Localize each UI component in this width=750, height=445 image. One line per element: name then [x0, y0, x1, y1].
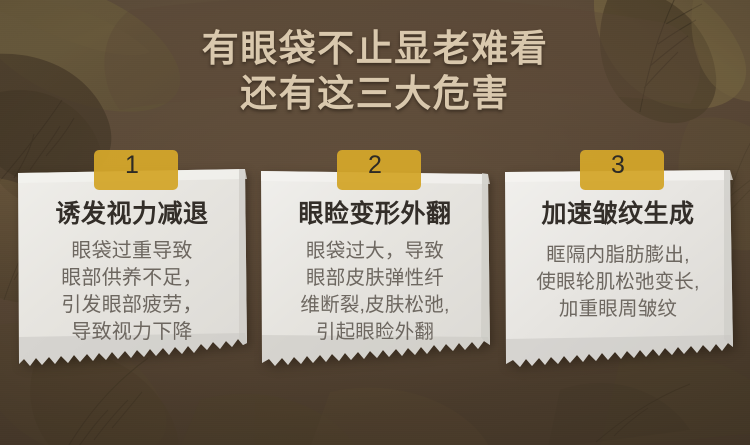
- hazard-card-2: 眼睑变形外翻 眼袋过大，导致 眼部皮肤弹性纤 维断裂,皮肤松弛, 引起眼睑外翻 …: [259, 146, 491, 378]
- card-text-line: 导致视力下降: [24, 319, 240, 346]
- card-text-line: 使眼轮肌松弛变长,: [510, 269, 726, 296]
- card-text-line: 眼部供养不足，: [24, 265, 240, 292]
- headline: 有眼袋不止显老难看 还有这三大危害: [0, 26, 750, 116]
- card-content-2: 眼睑变形外翻 眼袋过大，导致 眼部皮肤弹性纤 维断裂,皮肤松弛, 引起眼睑外翻: [259, 167, 491, 378]
- number-tab-label-1: 1: [90, 146, 174, 186]
- headline-line-2: 还有这三大危害: [0, 71, 750, 116]
- card-text-3: 眶隔内脂肪膨出, 使眼轮肌松弛变长, 加重眼周皱纹: [510, 229, 726, 323]
- card-text-line: 眶隔内脂肪膨出,: [510, 242, 726, 269]
- card-content-1: 诱发视力减退 眼袋过重导致 眼部供养不足， 引发眼部疲劳， 导致视力下降: [16, 167, 248, 378]
- card-text-line: 加重眼周皱纹: [510, 296, 726, 323]
- card-text-line: 引发眼部疲劳，: [24, 292, 240, 319]
- hazard-card-3: 加速皱纹生成 眶隔内脂肪膨出, 使眼轮肌松弛变长, 加重眼周皱纹 3: [502, 146, 734, 378]
- card-content-3: 加速皱纹生成 眶隔内脂肪膨出, 使眼轮肌松弛变长, 加重眼周皱纹: [502, 167, 734, 378]
- poster-root: 有眼袋不止显老难看 还有这三大危害: [0, 0, 750, 445]
- number-tab-3: 3: [576, 146, 660, 186]
- card-text-line: 眼袋过大，导致: [267, 238, 483, 265]
- headline-line-1: 有眼袋不止显老难看: [0, 26, 750, 71]
- card-text-line: 维断裂,皮肤松弛,: [267, 292, 483, 319]
- card-text-line: 眼部皮肤弹性纤: [267, 265, 483, 292]
- hazard-card-1: 诱发视力减退 眼袋过重导致 眼部供养不足， 引发眼部疲劳， 导致视力下降 1: [16, 146, 248, 378]
- card-text-line: 引起眼睑外翻: [267, 319, 483, 346]
- card-text-2: 眼袋过大，导致 眼部皮肤弹性纤 维断裂,皮肤松弛, 引起眼睑外翻: [267, 229, 483, 346]
- number-tab-label-2: 2: [333, 146, 417, 186]
- card-text-1: 眼袋过重导致 眼部供养不足， 引发眼部疲劳， 导致视力下降: [24, 229, 240, 346]
- card-text-line: 眼袋过重导致: [24, 238, 240, 265]
- number-tab-label-3: 3: [576, 146, 660, 186]
- number-tab-1: 1: [90, 146, 174, 186]
- number-tab-2: 2: [333, 146, 417, 186]
- cards-row: 诱发视力减退 眼袋过重导致 眼部供养不足， 引发眼部疲劳， 导致视力下降 1: [0, 146, 750, 386]
